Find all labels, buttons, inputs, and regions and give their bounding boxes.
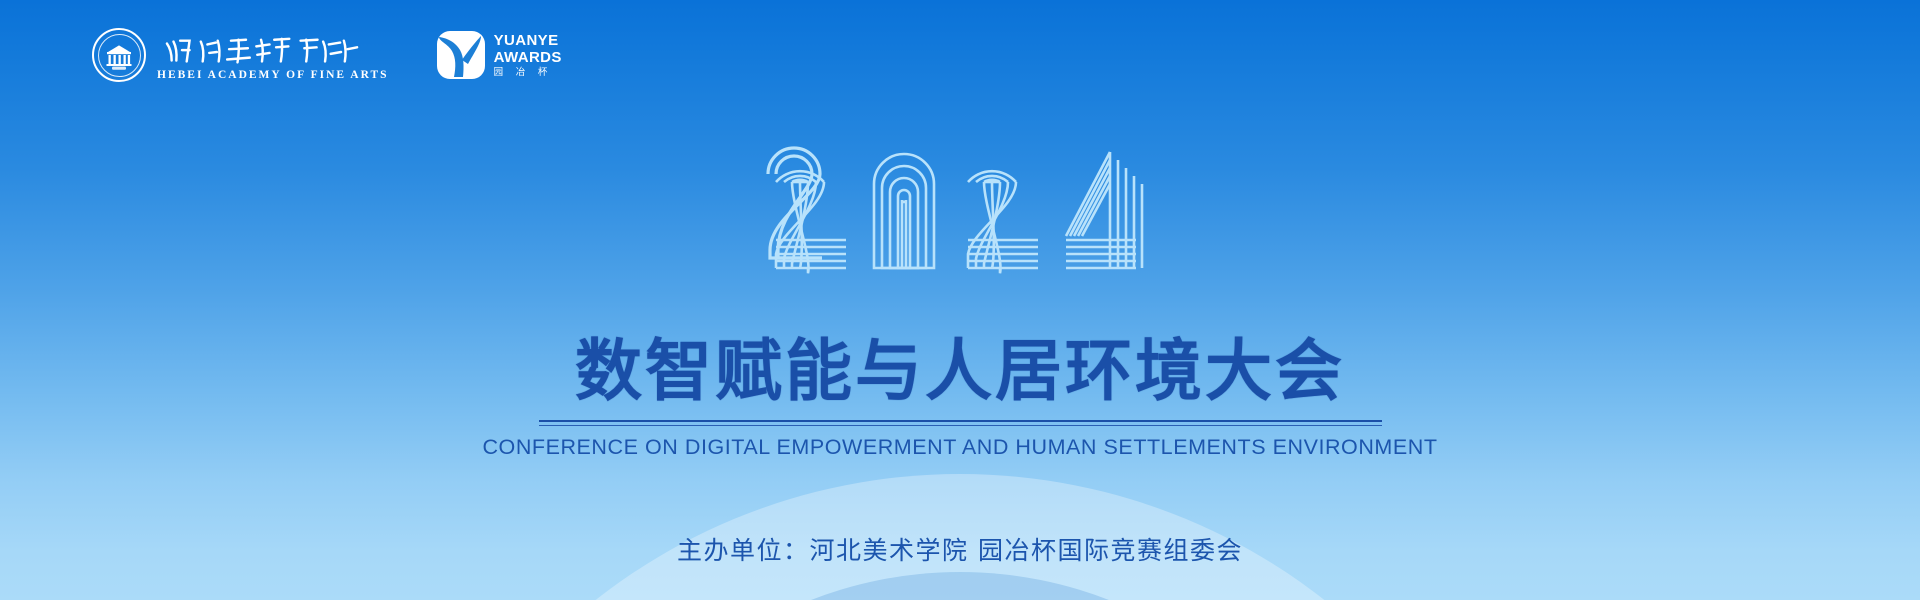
divider-line-thick <box>539 420 1382 422</box>
title-divider <box>539 420 1382 426</box>
logo-row: HEBEI ACADEMY OF FINE ARTS YUANYE AWARDS… <box>92 28 562 82</box>
yuanye-line2: AWARDS <box>494 50 562 65</box>
hebei-chinese-wordmark <box>157 36 367 68</box>
page-subtitle: CONFERENCE ON DIGITAL EMPOWERMENT AND HU… <box>482 435 1437 460</box>
year-2024-graphic <box>760 136 1160 288</box>
conference-banner: HEBEI ACADEMY OF FINE ARTS YUANYE AWARDS… <box>0 0 1920 600</box>
organizer-line: 主办单位：河北美术学院 园冶杯国际竞赛组委会 <box>0 531 1920 567</box>
hebei-english-name: HEBEI ACADEMY OF FINE ARTS <box>157 70 389 82</box>
hebei-academy-logo[interactable]: HEBEI ACADEMY OF FINE ARTS <box>92 28 389 82</box>
divider-line-thin <box>539 425 1382 426</box>
page-title: 数智赋能与人居环境大会 <box>575 338 1345 405</box>
yuanye-awards-logo[interactable]: YUANYE AWARDS 园 冶 杯 <box>437 31 562 79</box>
yuanye-line1: YUANYE <box>494 33 562 48</box>
yuanye-y-mark-icon <box>437 31 485 79</box>
headline-block: 数智赋能与人居环境大会 CONFERENCE ON DIGITAL EMPOWE… <box>0 338 1920 460</box>
decorative-arc-blue <box>550 572 1370 600</box>
academy-gate-emblem-icon <box>92 28 146 82</box>
yuanye-chinese-name: 园 冶 杯 <box>494 68 562 78</box>
